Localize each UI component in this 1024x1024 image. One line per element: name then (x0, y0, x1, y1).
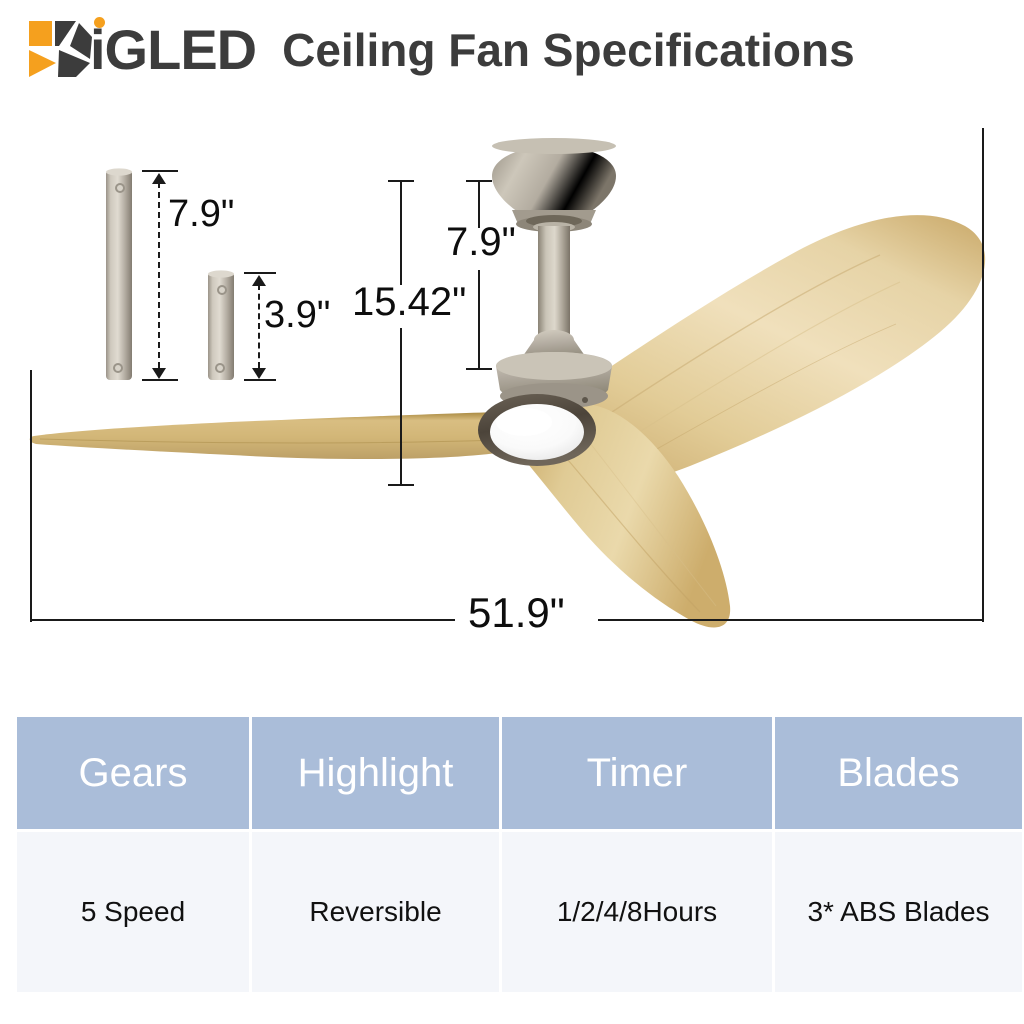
table-header-highlight: Highlight (252, 717, 499, 829)
page-title: Ceiling Fan Specifications (282, 27, 855, 73)
table-row: 5 Speed Reversible 1/2/4/8Hours 3* ABS B… (17, 832, 1022, 992)
table-cell-timer: 1/2/4/8Hours (502, 832, 772, 992)
table-header-blades: Blades (775, 717, 1022, 829)
dimension-label-short-downrod: 3.9" (264, 296, 330, 334)
table-cell-highlight: Reversible (252, 832, 499, 992)
dimension-label-long-downrod: 7.9" (168, 195, 234, 233)
logo-i-dot-icon (94, 17, 105, 28)
table-header-gears: Gears (17, 717, 249, 829)
dimension-label-overall-height: 15.42" (352, 282, 466, 322)
logo-wordmark: iGLED (90, 22, 256, 78)
table-cell-blades: 3* ABS Blades (775, 832, 1022, 992)
table-header-row: Gears Highlight Timer Blades (17, 717, 1022, 829)
long-downrod-part (106, 170, 132, 380)
dimension-label-downrod-drop: 7.9" (446, 222, 516, 262)
dimension-label-blade-span: 51.9" (468, 592, 565, 634)
fan-diagram: 7.9" 3.9" 15.42" 7.9" 51.9" (0, 100, 1024, 660)
logo-word-text: iGLED (90, 18, 256, 81)
aperture-d-logo-icon (26, 19, 94, 81)
table-header-timer: Timer (502, 717, 772, 829)
table-cell-gears: 5 Speed (17, 832, 249, 992)
specifications-table: Gears Highlight Timer Blades 5 Speed Rev… (14, 714, 1024, 995)
page-header: iGLED Ceiling Fan Specifications (0, 0, 1024, 100)
